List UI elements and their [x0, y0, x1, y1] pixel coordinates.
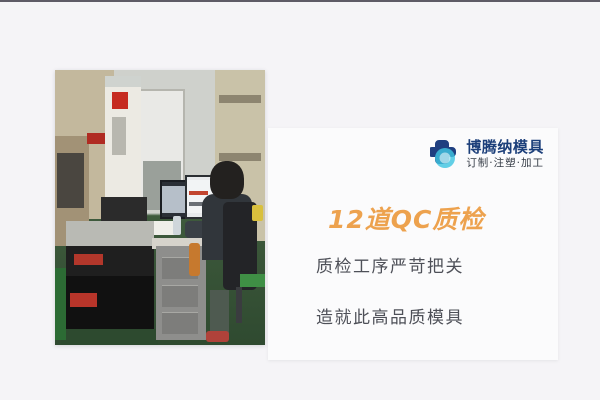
brand-logo: 博腾纳模具 订制·注塑·加工: [430, 138, 544, 170]
slide-stage: 博腾纳模具 订制·注塑·加工 12道QC质检 质检工序严苛把关 造就此高品质模具: [0, 0, 600, 400]
photo-cmm-nameplate: [74, 254, 103, 265]
photo-shelf-1: [219, 95, 261, 103]
photo-cmm-vertical-text: [112, 117, 127, 156]
qc-photo: [55, 70, 265, 345]
photo-drawer-3: [162, 312, 198, 334]
cross-droplet-logo-icon: [430, 138, 460, 170]
photo-desk-bottle: [173, 216, 181, 235]
photo-floor-rail-left: [55, 268, 66, 340]
photo-drawer-2: [162, 285, 198, 307]
photo-cmm-granite-base: [66, 221, 154, 249]
body-copy-line: 质检工序严苛把关: [316, 252, 464, 277]
photo-monitor-left-screen: [162, 186, 185, 214]
photo-cmm-logo-mark: [112, 92, 129, 109]
brand-text-block: 博腾纳模具 订制·注塑·加工: [466, 140, 544, 169]
headline: 12道QC质检: [328, 200, 484, 236]
photo-worker-leg: [210, 290, 229, 337]
top-edge-rule: [0, 0, 600, 2]
photo-monitor-right-chart-red: [189, 191, 208, 195]
content-card: 博腾纳模具 订制·注塑·加工 12道QC质检 质检工序严苛把关 造就此高品质模具: [268, 128, 558, 360]
factory-qc-photo-icon: [55, 70, 265, 345]
photo-floor-rail-right: [240, 274, 265, 288]
photo-worker-shoe: [206, 331, 229, 342]
photo-cmm-cap: [105, 76, 141, 87]
photo-cabinet-left-door: [57, 153, 84, 208]
photo-office-chair-post: [236, 287, 242, 323]
photo-chair-armrest: [189, 243, 200, 276]
photo-shelf-2: [219, 153, 261, 161]
photo-worker-head: [210, 161, 244, 200]
photo-desk-paper: [154, 221, 175, 235]
body-copy: 质检工序严苛把关 造就此高品质模具: [316, 252, 464, 328]
brand-name: 博腾纳模具: [466, 140, 544, 155]
photo-cmm-stand: [61, 329, 158, 346]
body-copy-line: 造就此高品质模具: [316, 303, 464, 328]
photo-cmm-cabinet-logo: [70, 293, 97, 307]
photo-yellow-object: [252, 205, 263, 222]
photo-cmm-probe-head: [101, 197, 147, 222]
brand-tagline: 订制·注塑·加工: [466, 158, 544, 169]
